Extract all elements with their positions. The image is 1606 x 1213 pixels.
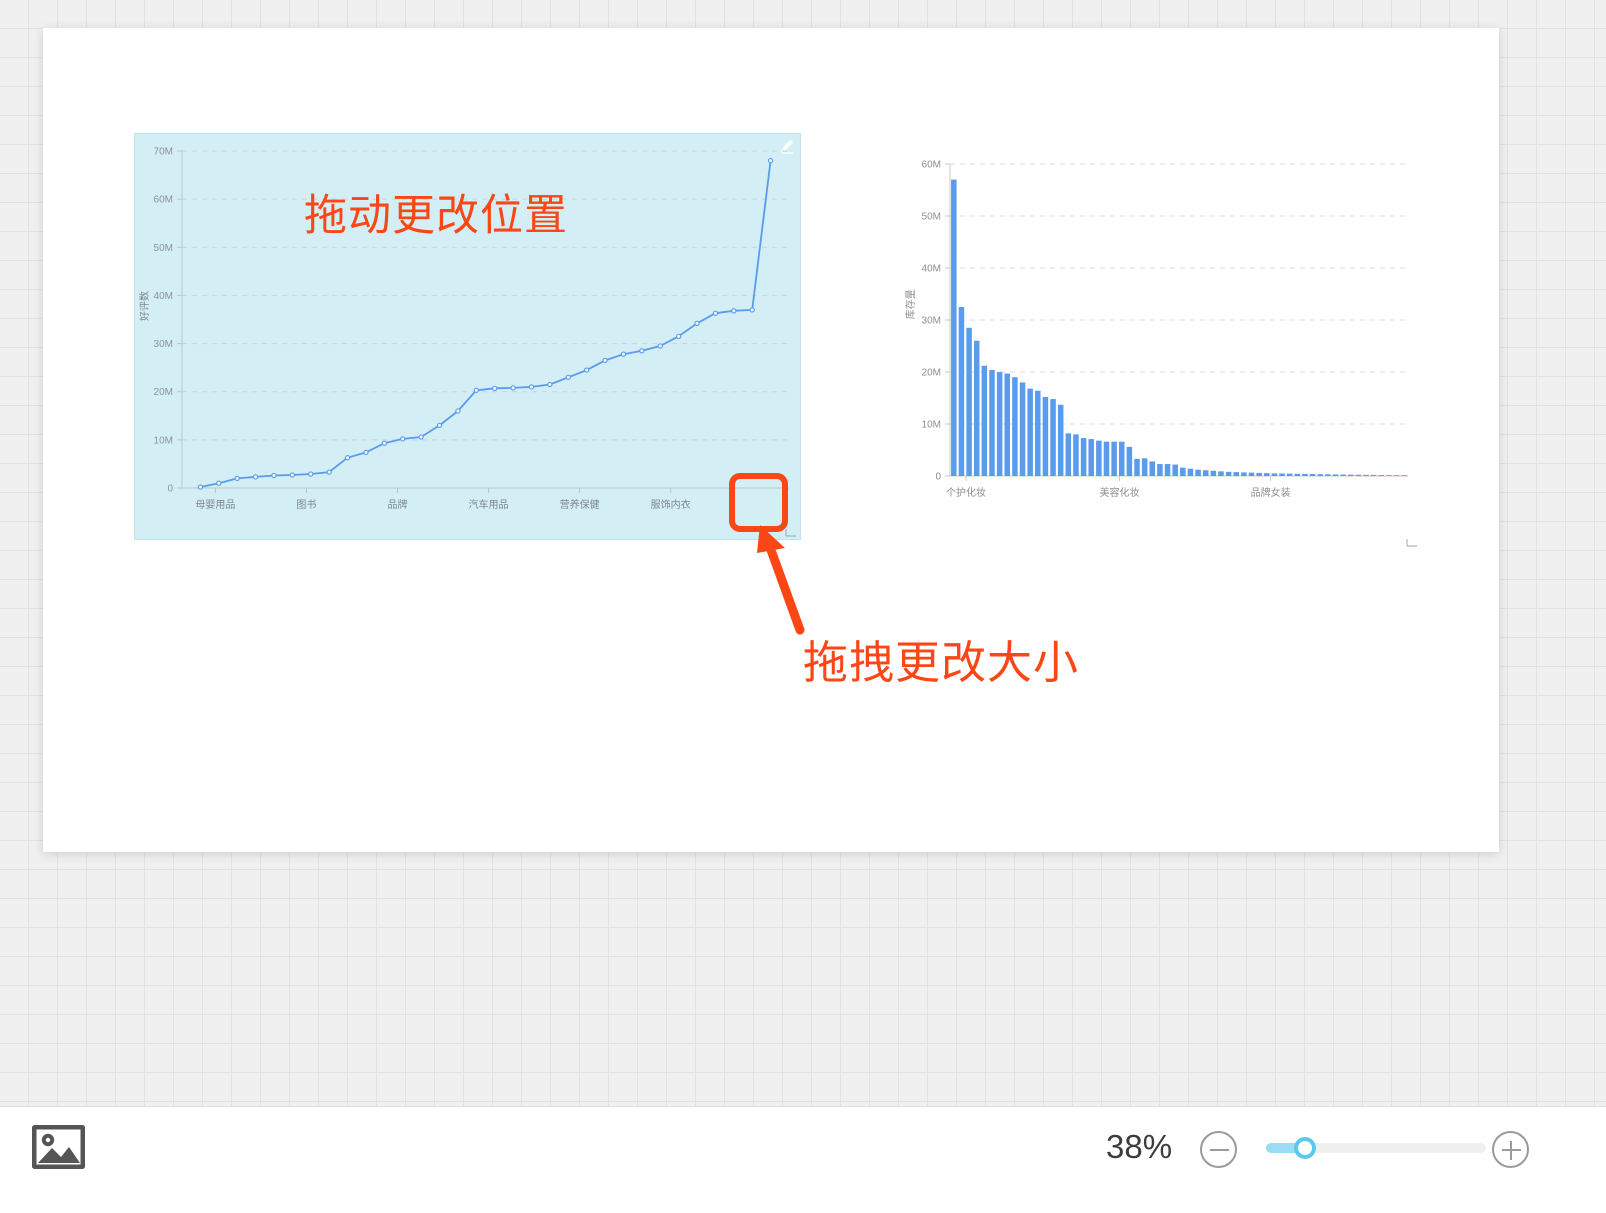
svg-text:40M: 40M xyxy=(154,291,173,302)
svg-text:品牌女装: 品牌女装 xyxy=(1251,486,1291,499)
svg-text:20M: 20M xyxy=(154,387,173,398)
svg-text:10M: 10M xyxy=(154,435,173,446)
svg-text:20M: 20M xyxy=(922,368,941,379)
line-chart-widget[interactable]: 010M20M30M40M50M60M70M好评数母婴用品图书品牌汽车用品营养保… xyxy=(134,133,801,540)
svg-text:40M: 40M xyxy=(922,264,941,275)
svg-text:0: 0 xyxy=(167,484,173,495)
svg-text:个护化妆: 个护化妆 xyxy=(946,486,986,499)
resize-handle-bottom-right-right-chart[interactable] xyxy=(1406,534,1418,546)
canvas-grid-background[interactable]: 010M20M30M40M50M60M70M好评数母婴用品图书品牌汽车用品营养保… xyxy=(0,0,1606,1106)
highlight-box-resize-handle xyxy=(729,473,788,532)
annotation-resize-hint: 拖拽更改大小 xyxy=(803,626,1079,691)
svg-text:50M: 50M xyxy=(154,243,173,254)
minus-icon xyxy=(1210,1149,1229,1151)
plus-icon-horizontal xyxy=(1502,1149,1521,1151)
svg-text:美容化妆: 美容化妆 xyxy=(1099,486,1139,499)
annotation-arrow-icon xyxy=(755,525,845,635)
bar-chart-plot: 010M20M30M40M50M60M库存量个护化妆美容化妆品牌女装 xyxy=(898,148,1418,528)
plus-icon-vertical xyxy=(1510,1141,1512,1160)
svg-text:60M: 60M xyxy=(922,160,941,171)
zoom-level-label: 38% xyxy=(1106,1128,1172,1166)
canvas-editor-app: 010M20M30M40M50M60M70M好评数母婴用品图书品牌汽车用品营养保… xyxy=(0,0,1606,1212)
annotation-move-hint: 拖动更改位置 xyxy=(304,181,568,243)
zoom-out-button[interactable] xyxy=(1200,1131,1237,1168)
svg-text:汽车用品: 汽车用品 xyxy=(469,498,509,511)
svg-text:品牌: 品牌 xyxy=(387,498,407,511)
svg-text:母婴用品: 母婴用品 xyxy=(195,499,235,511)
svg-text:50M: 50M xyxy=(922,212,941,223)
svg-text:好评数: 好评数 xyxy=(138,291,151,321)
bar-chart-widget[interactable]: 010M20M30M40M50M60M库存量个护化妆美容化妆品牌女装 xyxy=(898,148,1418,528)
svg-text:0: 0 xyxy=(935,472,941,483)
svg-text:10M: 10M xyxy=(922,420,941,431)
zoom-slider-knob[interactable] xyxy=(1294,1137,1316,1159)
svg-text:图书: 图书 xyxy=(296,499,316,511)
svg-text:30M: 30M xyxy=(922,316,941,327)
svg-text:70M: 70M xyxy=(154,147,173,158)
svg-text:30M: 30M xyxy=(154,339,173,350)
board-page[interactable]: 010M20M30M40M50M60M70M好评数母婴用品图书品牌汽车用品营养保… xyxy=(43,28,1499,852)
image-icon[interactable] xyxy=(32,1125,85,1169)
zoom-in-button[interactable] xyxy=(1492,1131,1529,1168)
svg-text:营养保健: 营养保健 xyxy=(560,498,600,511)
svg-text:库存量: 库存量 xyxy=(904,289,917,319)
bottom-toolbar xyxy=(0,1106,1606,1213)
svg-text:60M: 60M xyxy=(154,195,173,206)
svg-text:服饰内衣: 服饰内衣 xyxy=(651,498,691,511)
zoom-slider[interactable] xyxy=(1266,1143,1486,1153)
